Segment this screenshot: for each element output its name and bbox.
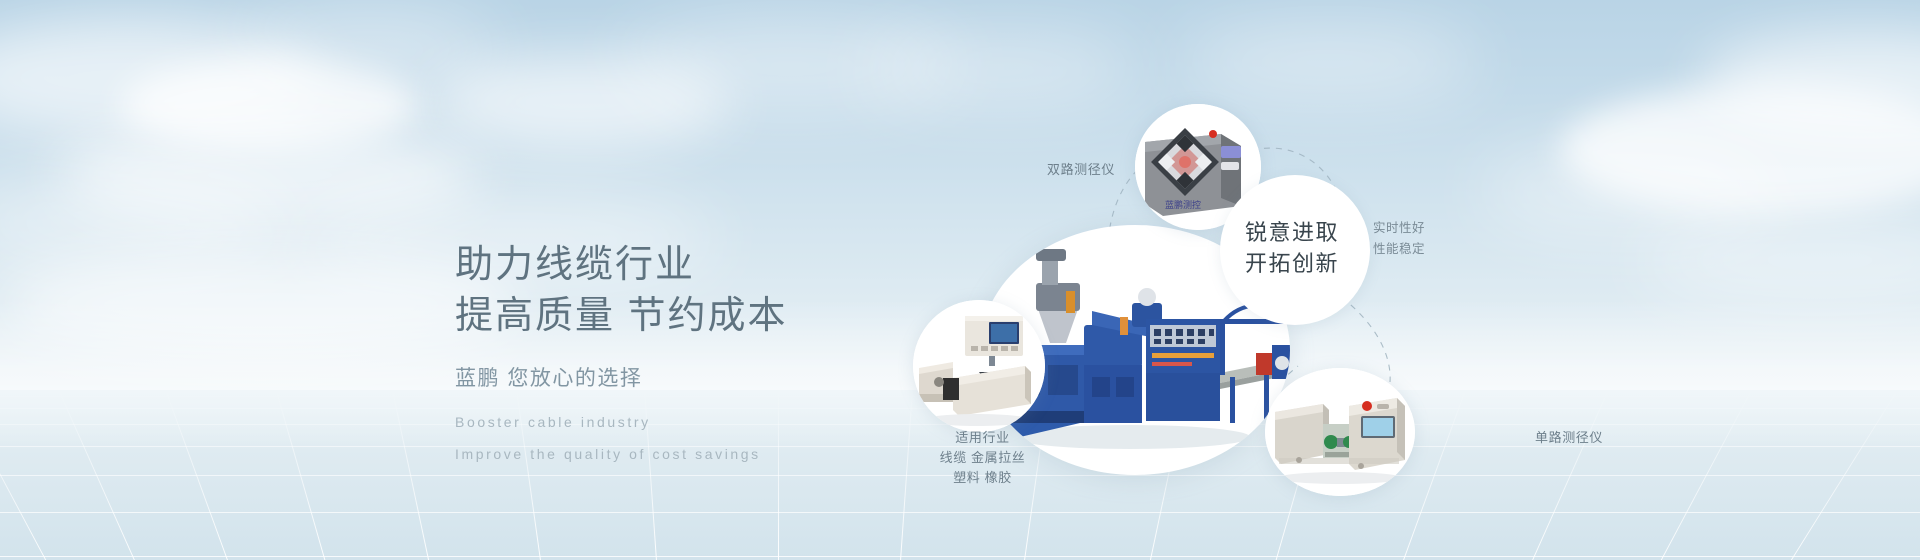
product-composition: 蓝鹏测控 — [880, 0, 1920, 560]
headline-block: 助力线缆行业 提高质量 节约成本 蓝鹏 您放心的选择 Booster cable… — [455, 240, 788, 468]
label-dual-gauge: 双路测径仪 — [1000, 160, 1115, 180]
label-industry-block: 适用行业 线缆 金属拉丝 塑料 橡胶 — [880, 428, 1085, 488]
feature-line-1: 实时性好 — [1373, 218, 1425, 239]
label-single-gauge: 单路测径仪 — [1535, 428, 1603, 448]
measurement-console-bubble — [913, 300, 1045, 432]
slogan-line-2: 开拓创新 — [1245, 249, 1339, 280]
single-channel-diameter-gauge-icon — [1265, 368, 1415, 496]
subtitle-english-line-1: Booster cable industry — [455, 409, 788, 436]
subtitle-chinese: 蓝鹏 您放心的选择 — [455, 362, 788, 392]
subtitle-english-line-2: Improve the quality of cost savings — [455, 441, 788, 468]
feature-block: 实时性好 性能稳定 — [1373, 218, 1425, 259]
feature-line-2: 性能稳定 — [1373, 239, 1425, 260]
single-gauge-bubble — [1265, 368, 1415, 496]
slogan-line-1: 锐意进取 — [1245, 218, 1339, 249]
measurement-console-icon — [913, 300, 1045, 432]
device-brand-text: 蓝鹏测控 — [1165, 199, 1201, 211]
slogan-block: 锐意进取 开拓创新 — [1245, 218, 1339, 280]
label-industry-line-1: 线缆 金属拉丝 — [880, 448, 1085, 468]
label-industry-line-2: 塑料 橡胶 — [880, 468, 1085, 488]
promotional-banner: 助力线缆行业 提高质量 节约成本 蓝鹏 您放心的选择 Booster cable… — [0, 0, 1920, 560]
label-industry-title: 适用行业 — [880, 428, 1085, 448]
headline-line-1: 助力线缆行业 — [455, 240, 788, 291]
headline-line-2: 提高质量 节约成本 — [455, 291, 788, 342]
